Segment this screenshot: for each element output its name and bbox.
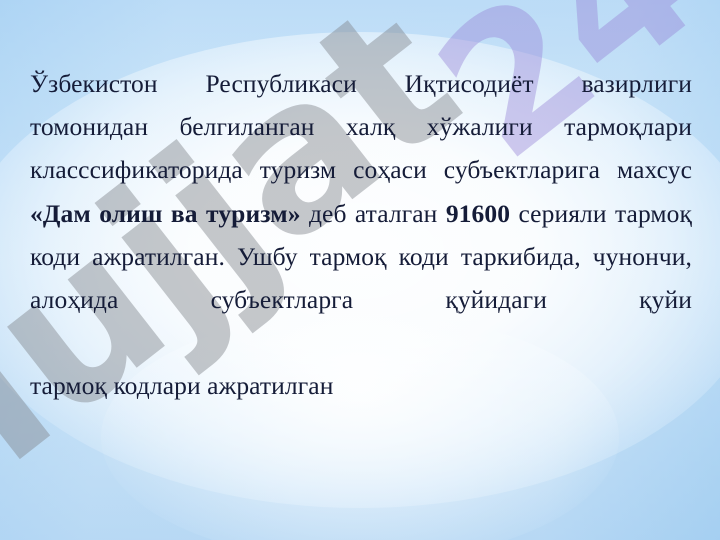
body-paragraph: Ўзбекистон Республикаси Иқтисодиёт вазир… bbox=[30, 62, 692, 364]
slide-canvas: Hujjat 24 Ўзбекистон Республикаси Иқтисо… bbox=[0, 0, 720, 540]
slide-body-text: Ўзбекистон Республикаси Иқтисодиёт вазир… bbox=[30, 62, 692, 408]
body-paragraph-last-line: тармоқ кодлари ажратилган bbox=[30, 364, 692, 407]
bold-phrase-dam-olish-va-turizm: «Дам олиш ва туризм» bbox=[30, 199, 301, 228]
bold-code-91600: 91600 bbox=[446, 199, 510, 228]
paragraph-segment-1: Ўзбекистон Республикаси Иқтисодиёт вазир… bbox=[30, 69, 692, 184]
paragraph-segment-2: деб аталган bbox=[301, 199, 446, 228]
